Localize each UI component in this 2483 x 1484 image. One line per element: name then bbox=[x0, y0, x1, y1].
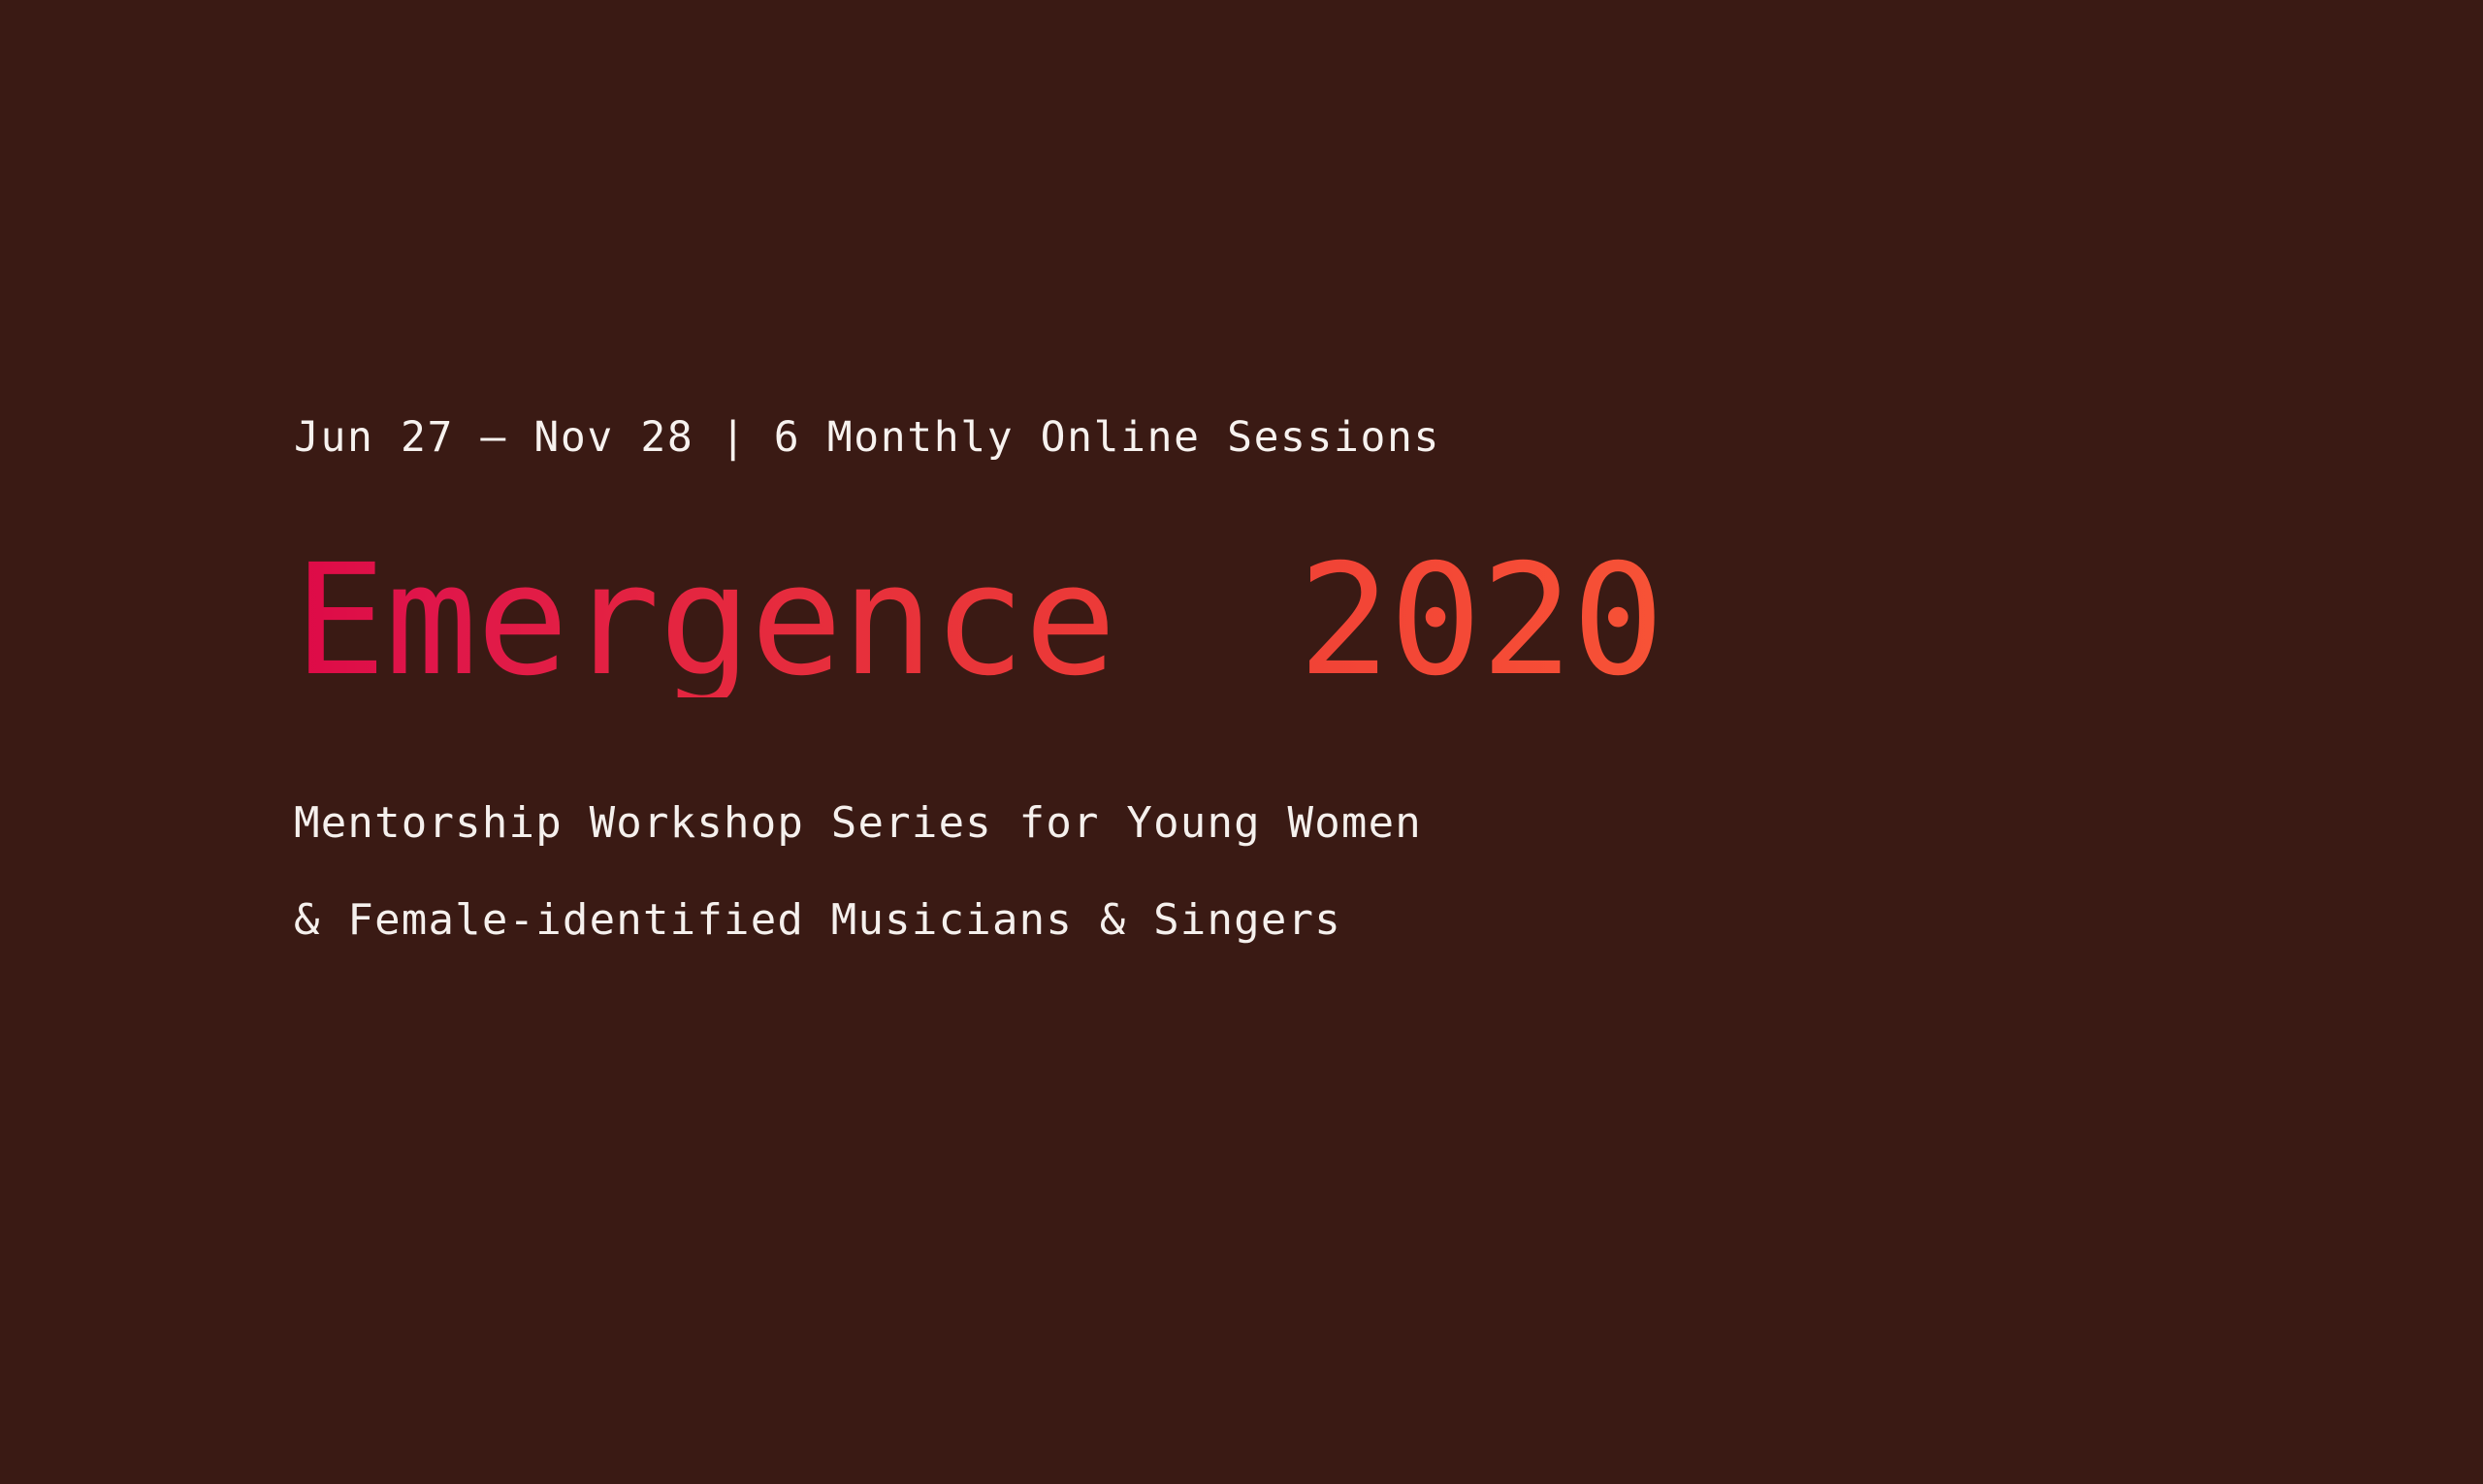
poster-canvas: Jun 27 – Nov 28 | 6 Monthly Online Sessi… bbox=[0, 0, 2483, 1484]
poster-subtitle: Mentorship Workshop Series for Young Wom… bbox=[294, 775, 2234, 969]
poster-content-block: Jun 27 – Nov 28 | 6 Monthly Online Sessi… bbox=[294, 417, 2234, 969]
subtitle-line-2: & Female-identified Musicians & Singers bbox=[294, 872, 2234, 969]
page-title: Emergence 2020 bbox=[294, 544, 2030, 697]
event-dates-and-sessions: Jun 27 – Nov 28 | 6 Monthly Online Sessi… bbox=[294, 417, 2234, 459]
subtitle-line-1: Mentorship Workshop Series for Young Wom… bbox=[294, 775, 2234, 872]
